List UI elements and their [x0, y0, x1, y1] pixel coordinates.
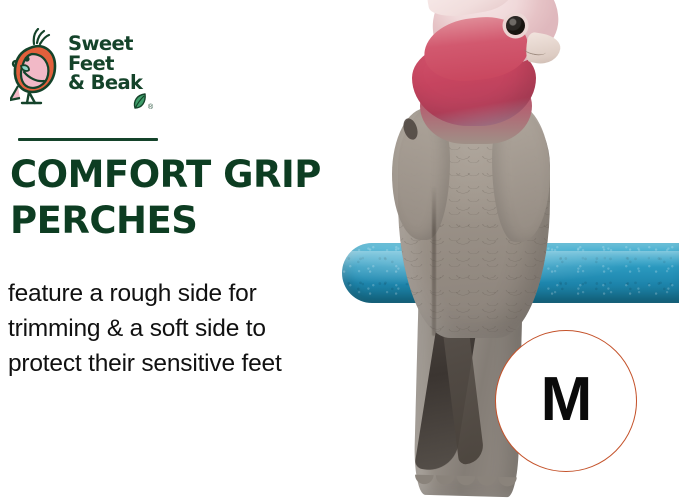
- description-text: feature a rough side for trimming & a so…: [8, 276, 368, 381]
- brand-wordmark: Sweet Feet & Beak: [68, 34, 172, 93]
- cockatiel-logo-icon: [10, 28, 68, 110]
- description-line-1: feature a rough side for: [8, 276, 368, 311]
- description-line-2: trimming & a soft side to: [8, 311, 368, 346]
- headline-line-1: COMFORT GRIP: [10, 153, 321, 196]
- logo-underline: [18, 138, 158, 141]
- bird-tail-edge: [413, 475, 517, 498]
- leaf-icon: [132, 92, 148, 112]
- brand-line-1: Sweet: [68, 34, 172, 54]
- size-badge-letter: M: [541, 369, 592, 431]
- brand-logo[interactable]: Sweet Feet & Beak ®: [8, 26, 168, 118]
- product-infographic: Sweet Feet & Beak ® COMFORT GRIP PERCHES…: [0, 0, 679, 504]
- size-badge: M: [495, 330, 637, 472]
- bird-eye: [506, 16, 525, 35]
- brand-line-3: & Beak: [68, 73, 172, 93]
- bird-wing-split: [432, 186, 436, 336]
- description-line-3: protect their sensitive feet: [8, 346, 368, 381]
- registered-trademark-symbol: ®: [148, 104, 153, 111]
